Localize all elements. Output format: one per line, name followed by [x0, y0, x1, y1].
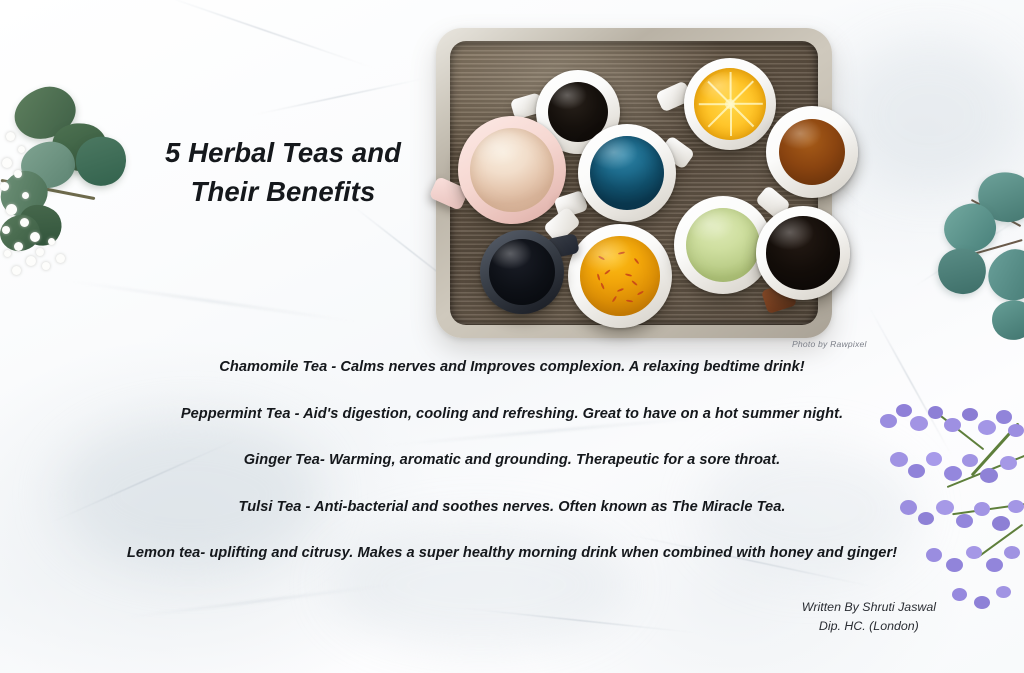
author-signoff: Written By Shruti Jaswal Dip. HC. (Londo…	[802, 598, 936, 636]
tea-benefits-list: Chamomile Tea - Calms nerves and Improve…	[0, 360, 1024, 593]
list-item: Ginger Tea- Warming, aromatic and ground…	[0, 453, 1024, 468]
author-name: Written By Shruti Jaswal	[802, 598, 936, 617]
title-line-2: Their Benefits	[118, 172, 448, 211]
cup-dark-tea-enamel-mug	[480, 230, 564, 314]
cup-black-coffee-mug	[756, 206, 850, 300]
cup-blue-pea-tea	[578, 124, 676, 222]
list-item: Tulsi Tea - Anti-bacterial and soothes n…	[0, 500, 1024, 515]
poster-canvas: 5 Herbal Teas and Their Benefits Photo b…	[0, 0, 1024, 673]
page-title: 5 Herbal Teas and Their Benefits	[118, 133, 448, 211]
cup-saffron-tea	[568, 224, 672, 328]
list-item: Lemon tea- uplifting and citrusy. Makes …	[0, 546, 1024, 561]
cup-milk-tea-pink	[458, 116, 566, 224]
list-item: Chamomile Tea - Calms nerves and Improve…	[0, 360, 1024, 375]
title-line-1: 5 Herbal Teas and	[165, 137, 401, 168]
tea-tray-photo	[436, 28, 832, 338]
list-item: Peppermint Tea - Aid's digestion, coolin…	[0, 407, 1024, 422]
photo-credit: Photo by Rawpixel	[792, 339, 867, 349]
cup-lemon-tea	[684, 58, 776, 150]
author-qualification: Dip. HC. (London)	[802, 617, 936, 636]
cup-amber-tea	[766, 106, 858, 198]
